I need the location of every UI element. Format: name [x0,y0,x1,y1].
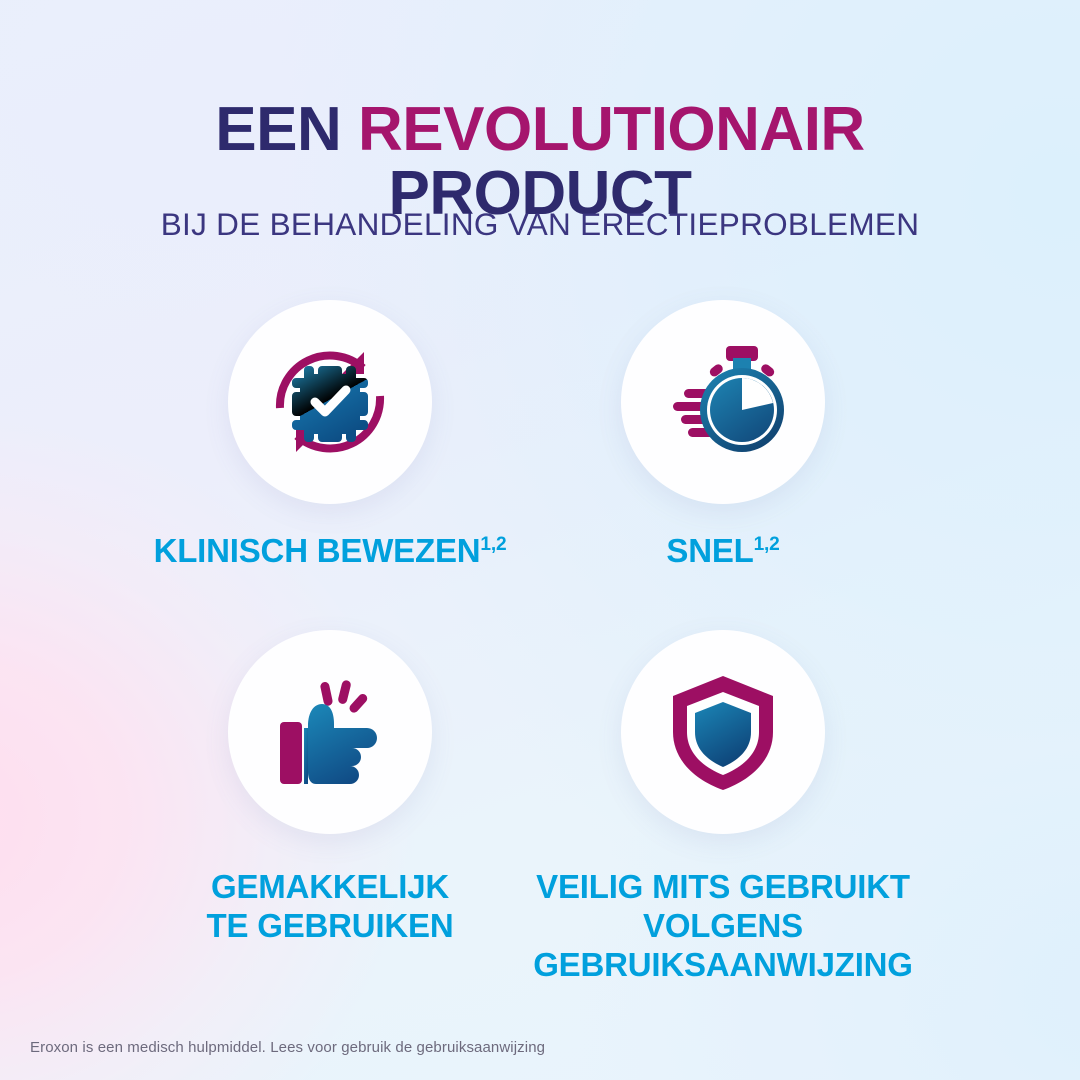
feature-label-text: KLINISCH BEWEZEN [154,532,481,569]
feature-label-line-2: TE GEBRUIKEN [207,907,454,944]
feature-label-line-1: GEMAKKELIJK [211,868,449,905]
poster-content: EEN REVOLUTIONAIRPRODUCT BIJ DE BEHANDEL… [0,0,1080,1080]
headline-part-2-accent: REVOLUTIONAIR [358,95,865,164]
feature-label-text: SNEL [666,532,753,569]
feature-icon-disc [621,300,825,504]
shield-icon [657,666,789,798]
pointing-hand-icon [264,666,396,798]
feature-label: SNEL1,2 [483,532,963,571]
feature-label-line-3: GEBRUIKSAANWIJZING [533,946,913,983]
page-subtitle: BIJ DE BEHANDELING VAN ERECTIEPROBLEMEN [0,206,1080,243]
feature-icon-disc [228,630,432,834]
feature-safe-when-used: VEILIG MITS GEBRUIKT VOLGENS GEBRUIKSAAN… [483,630,963,985]
feature-icon-disc [621,630,825,834]
feature-icon-disc [228,300,432,504]
feature-fast: SNEL1,2 [483,300,963,571]
poster-canvas: EEN REVOLUTIONAIRPRODUCT BIJ DE BEHANDEL… [0,0,1080,1080]
legal-footnote: Eroxon is een medisch hulpmiddel. Lees v… [30,1039,545,1056]
refresh-gear-check-icon [264,336,396,468]
headline-part-1: EEN [215,95,358,164]
stopwatch-speed-icon [657,336,789,468]
feature-label-superscript: 1,2 [754,534,780,555]
feature-grid: KLINISCH BEWEZEN1,2 [0,300,1080,1030]
feature-label: VEILIG MITS GEBRUIKT VOLGENS GEBRUIKSAAN… [463,868,983,985]
feature-label-line-2: VOLGENS [643,907,803,944]
feature-label-line-1: VEILIG MITS GEBRUIKT [536,868,910,905]
